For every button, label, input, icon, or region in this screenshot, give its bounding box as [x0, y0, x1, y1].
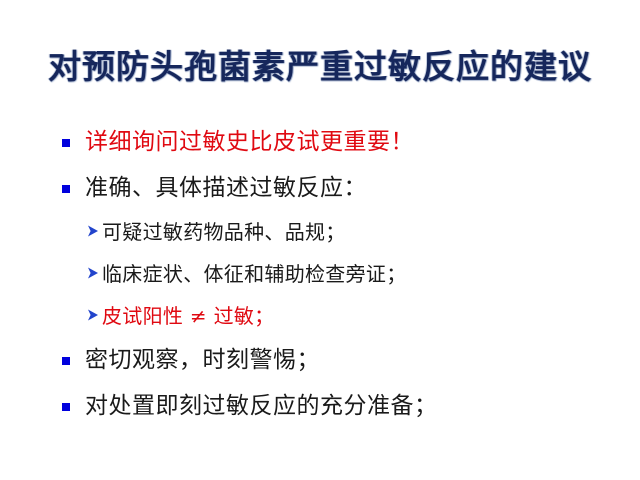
arrow-bullet-icon	[87, 224, 100, 244]
list-item-label: 详细询问过敏史比皮试更重要！	[85, 125, 414, 159]
list-item: 对处置即刻过敏反应的充分准备；	[0, 389, 640, 435]
list-item-label: 对处置即刻过敏反应的充分准备；	[85, 389, 438, 423]
arrow-bullet-icon	[87, 308, 100, 328]
list-item: 准确、具体描述过敏反应：	[0, 171, 640, 217]
square-bullet-icon	[62, 185, 70, 193]
square-bullet-icon	[62, 403, 70, 411]
arrow-bullet-icon	[87, 266, 100, 286]
slide-canvas: 对预防头孢菌素严重过敏反应的建议 详细询问过敏史比皮试更重要！ 准确、具体描述过…	[0, 0, 640, 480]
list-item: 详细询问过敏史比皮试更重要！	[0, 125, 640, 171]
list-item-label: 密切观察，时刻警惕；	[85, 343, 320, 377]
sub-list-item: 可疑过敏药物品种、品规；	[0, 217, 640, 259]
bullet-list: 详细询问过敏史比皮试更重要！ 准确、具体描述过敏反应： 可疑过敏药物品种、品规；	[0, 125, 640, 435]
sub-list-item-label: 皮试阳性 ≠ 过敏；	[102, 301, 274, 331]
square-bullet-icon	[62, 357, 70, 365]
sub-list-item: 皮试阳性 ≠ 过敏；	[0, 301, 640, 343]
square-bullet-icon	[62, 139, 70, 147]
sub-list-item-label: 可疑过敏药物品种、品规；	[102, 217, 346, 247]
sub-list-item-label: 临床症状、体征和辅助检查旁证；	[102, 259, 407, 289]
page-title: 对预防头孢菌素严重过敏反应的建议	[0, 47, 640, 87]
list-item-label: 准确、具体描述过敏反应：	[85, 171, 367, 205]
list-item: 密切观察，时刻警惕；	[0, 343, 640, 389]
sub-list-item: 临床症状、体征和辅助检查旁证；	[0, 259, 640, 301]
